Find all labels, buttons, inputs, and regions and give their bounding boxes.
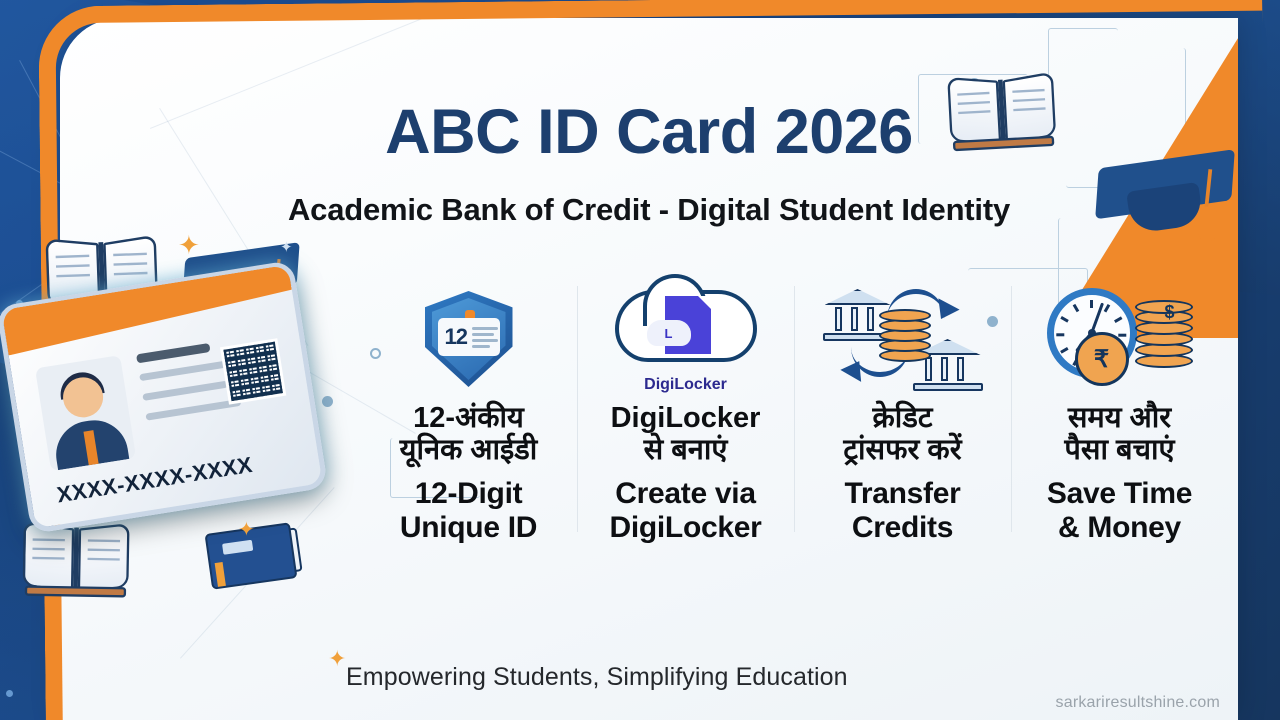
sparkle-icon: ✦	[238, 520, 255, 540]
digilocker-logo-text: DigiLocker	[615, 376, 757, 394]
feature-transfer-credits: क्रेडिट ट्रांसफर करें Transfer Credits	[794, 280, 1011, 544]
sparkle-icon: ✦	[280, 240, 293, 255]
shield-id-icon: 12	[364, 280, 573, 398]
feature-hindi-label: DigiLocker से बनाएं	[581, 402, 790, 467]
feature-hindi-label: समय और पैसा बचाएं	[1015, 402, 1224, 467]
feature-unique-id: 12 12-अंकीय यूनिक आईडी 12-Digit Unique I…	[360, 280, 577, 544]
credit-transfer-icon	[798, 280, 1007, 398]
rupee-coin: ₹	[1075, 332, 1129, 386]
shield-badge-number: 12	[445, 324, 467, 350]
id-card-photo	[35, 355, 136, 471]
feature-english-label: Create via DigiLocker	[581, 477, 790, 544]
student-id-card-illustration: XXXX-XXXX-XXXX	[0, 260, 328, 534]
tagline: Empowering Students, Simplifying Educati…	[346, 663, 848, 692]
clock-coins-icon: $ ₹	[1015, 280, 1224, 398]
feature-english-label: Transfer Credits	[798, 477, 1007, 544]
digilocker-cloud-icon: L DigiLocker	[581, 280, 790, 398]
sparkle-icon: ✦	[328, 648, 346, 670]
open-book-icon	[22, 524, 129, 597]
page-subtitle: Academic Bank of Credit - Digital Studen…	[60, 192, 1238, 228]
feature-row: 12 12-अंकीय यूनिक आईडी 12-Digit Unique I…	[360, 280, 1228, 640]
site-watermark: sarkariresultshine.com	[1056, 694, 1220, 712]
feature-digilocker: L DigiLocker DigiLocker से बनाएं Create …	[577, 280, 794, 544]
sparkle-icon: ✦	[178, 232, 200, 258]
feature-hindi-label: क्रेडिट ट्रांसफर करें	[798, 402, 1007, 467]
feature-english-label: 12-Digit Unique ID	[364, 477, 573, 544]
dollar-symbol: $	[1164, 302, 1174, 323]
feature-hindi-label: 12-अंकीय यूनिक आईडी	[364, 402, 573, 467]
page-title: ABC ID Card 2026	[60, 96, 1238, 168]
feature-english-label: Save Time & Money	[1015, 477, 1224, 544]
feature-save-time-money: $ ₹ समय और पैसा बचाएं Save Time & Money	[1011, 280, 1228, 544]
digilocker-lock-letter: L	[647, 320, 691, 346]
network-dot	[6, 690, 13, 697]
id-card-qr-code	[220, 338, 286, 404]
circuit-node	[322, 396, 333, 407]
poster-canvas: ABC ID Card 2026 Academic Bank of Credit…	[0, 0, 1280, 720]
